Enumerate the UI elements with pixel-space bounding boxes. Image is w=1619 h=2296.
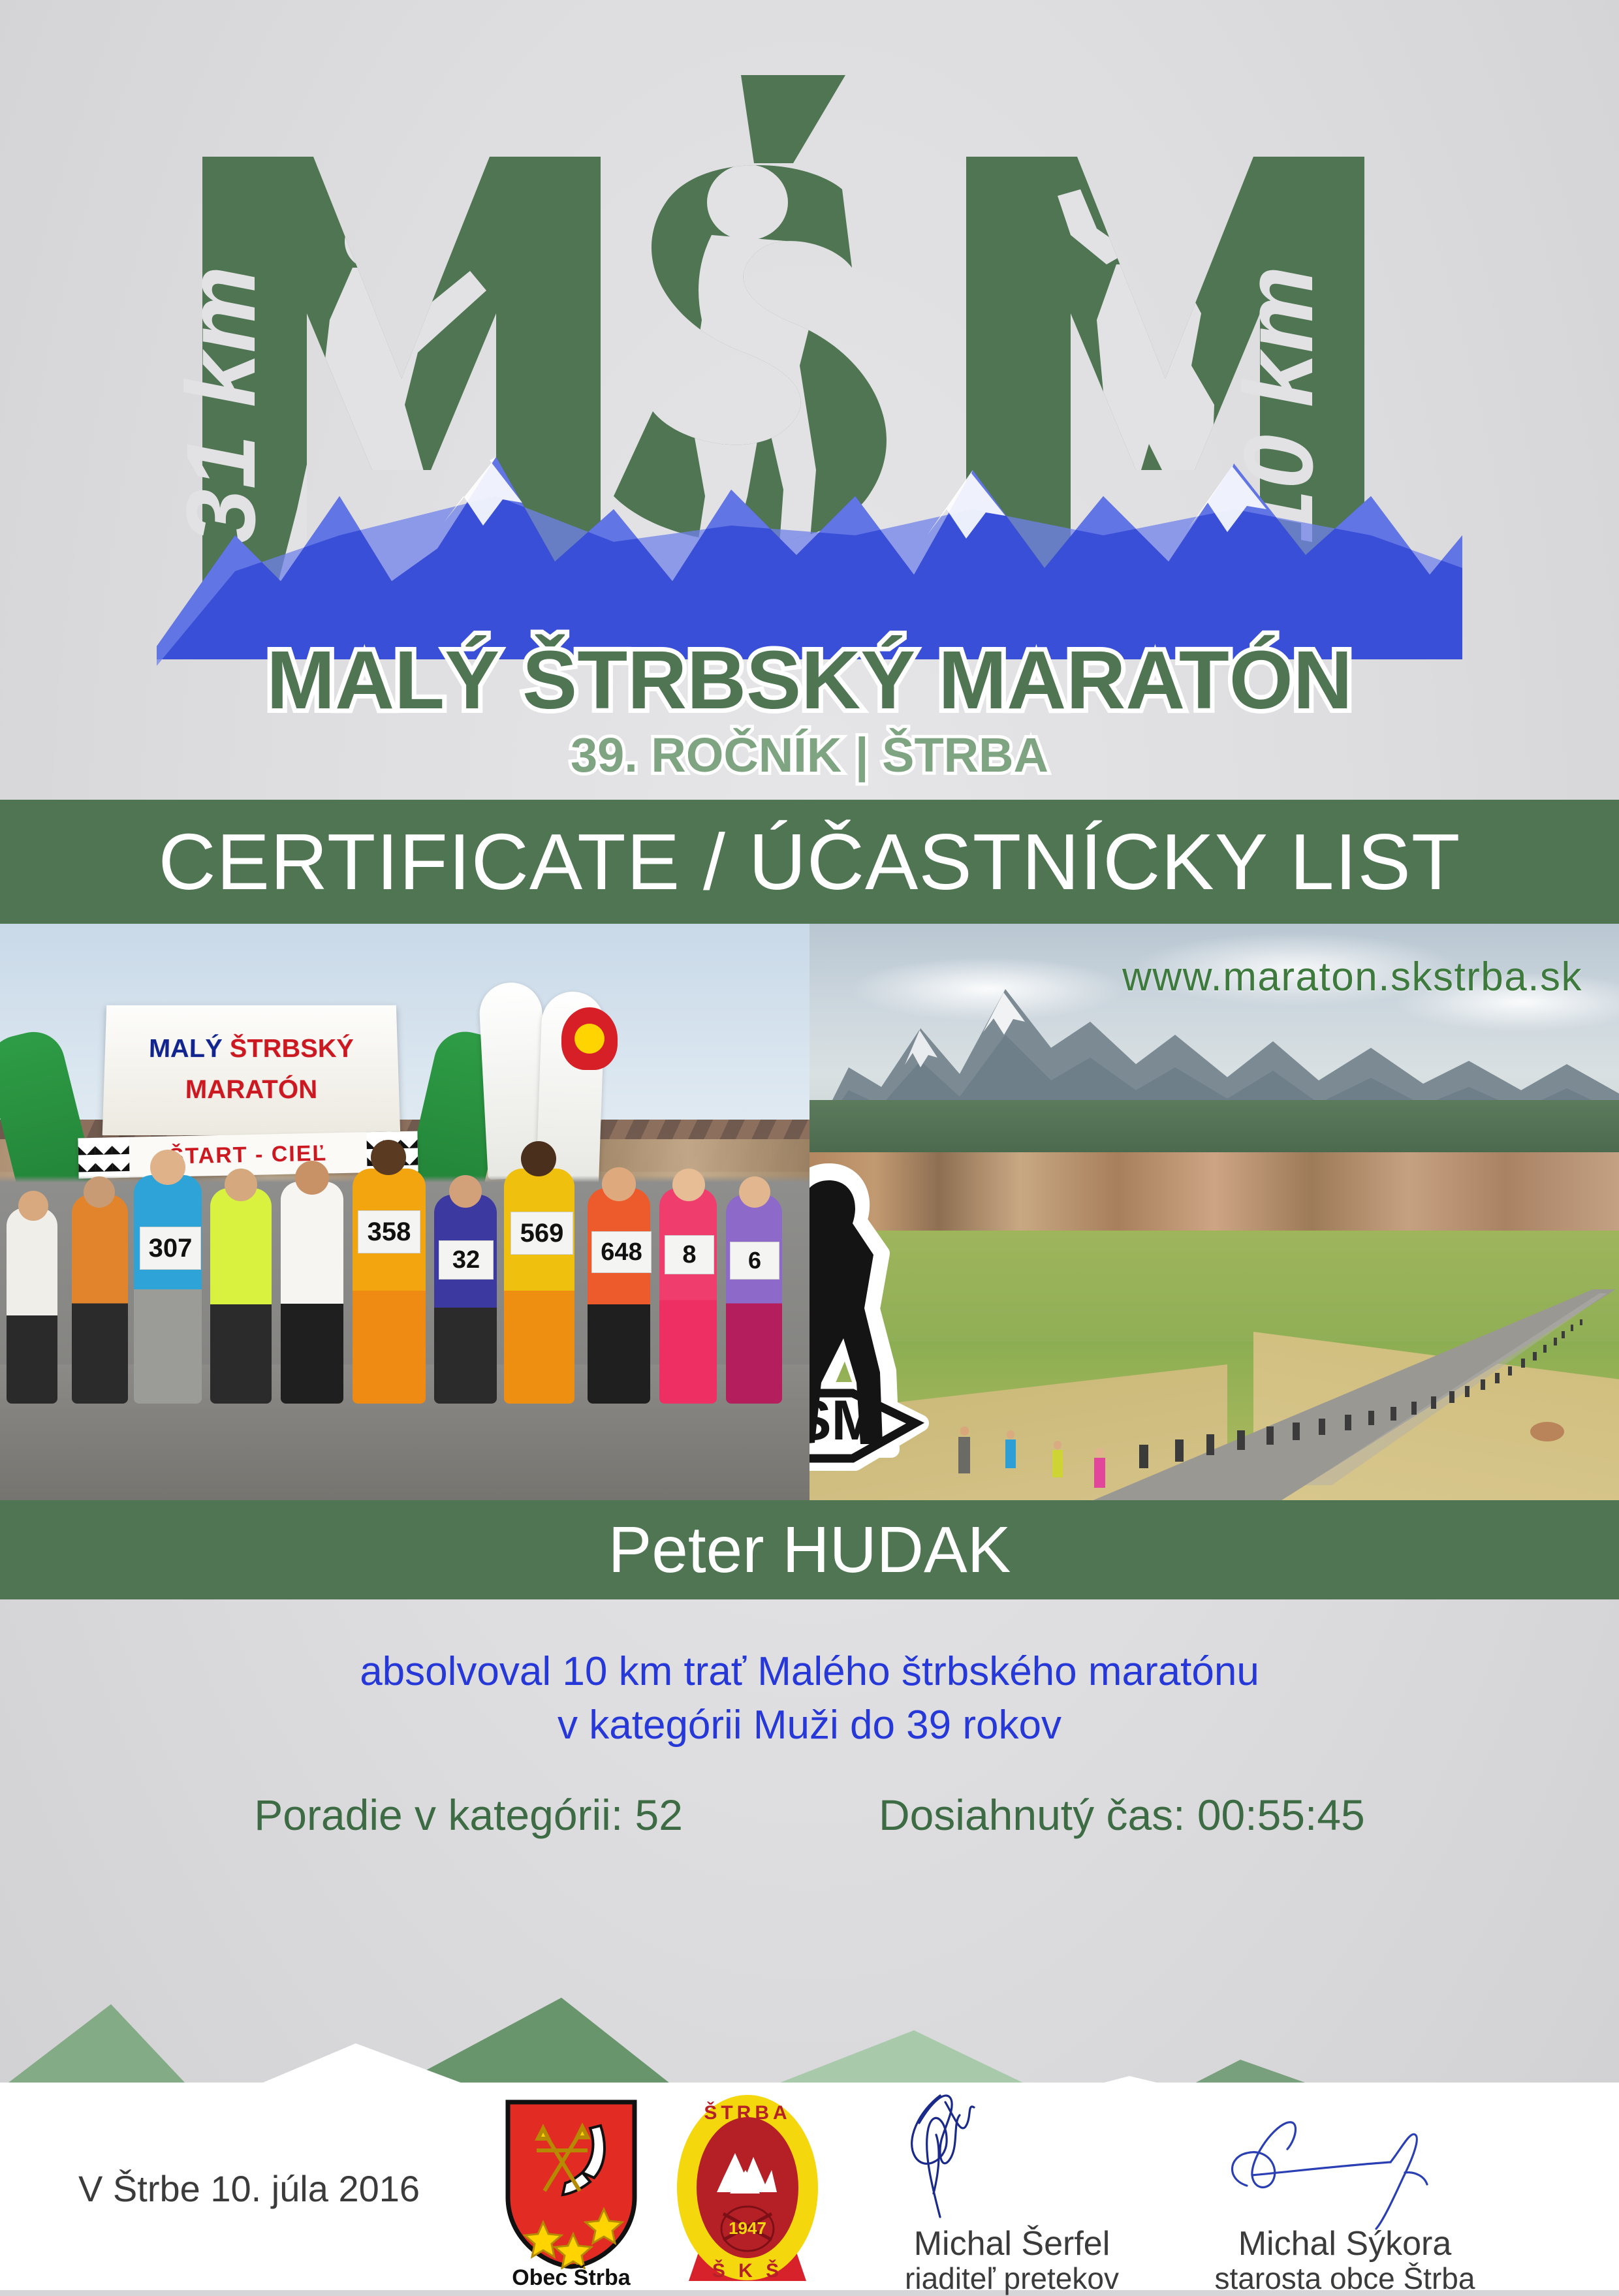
caron-mark xyxy=(741,75,845,163)
category-rank: Poradie v kategórii: 52 xyxy=(254,1790,683,1840)
runner-figure xyxy=(72,1195,128,1404)
runner-figure xyxy=(588,1188,650,1404)
flag-crest-icon xyxy=(561,1007,618,1070)
arch-word-strbsky: ŠTRBSKÝ xyxy=(230,1035,354,1063)
runner-bib: 8 xyxy=(665,1235,714,1274)
runner-figure xyxy=(434,1195,497,1404)
photo-strip: MALÝ ŠTRBSKÝ MARATÓN ŠTART - CIEĽ xyxy=(0,924,1619,1502)
runner-head xyxy=(84,1176,115,1208)
runner-figure xyxy=(134,1175,202,1404)
signatory-role: starosta obce Štrba xyxy=(1175,2262,1515,2296)
certificate-heading-band: CERTIFICATE / ÚČASTNÍCKY LIST xyxy=(0,800,1619,924)
runner-head xyxy=(150,1150,185,1185)
runner-head xyxy=(449,1175,482,1208)
runner-bib: 6 xyxy=(730,1242,779,1280)
msm-runner-emblem: MŠM xyxy=(809,1142,979,1502)
runner-head xyxy=(295,1161,329,1195)
arch-banner-line1: MALÝ ŠTRBSKÝ xyxy=(148,1035,354,1063)
runner-head xyxy=(225,1169,257,1201)
runner-figure xyxy=(504,1169,574,1404)
signatory-role: riaditeľ pretekov xyxy=(842,2262,1182,2296)
signature-block-director: Michal Šerfel riaditeľ pretekov xyxy=(842,2089,1182,2296)
runner-head xyxy=(739,1176,770,1208)
runner-figure xyxy=(210,1188,272,1404)
certificate-heading: CERTIFICATE / ÚČASTNÍCKY LIST xyxy=(159,816,1461,907)
runner-bib: 307 xyxy=(140,1227,201,1270)
runner-bib: 358 xyxy=(358,1210,420,1253)
runner-figure xyxy=(726,1195,782,1404)
arch-banner-line2: MARATÓN xyxy=(185,1075,317,1105)
sponsor-flags xyxy=(483,983,646,1191)
runner-bib: 569 xyxy=(511,1212,573,1255)
club-top-text: ŠTRBA xyxy=(704,2101,791,2124)
handwritten-signature xyxy=(842,2089,1182,2233)
runner-figure xyxy=(7,1208,57,1404)
obec-strba-coat-of-arms xyxy=(503,2099,640,2269)
signature-image-director xyxy=(842,2089,1182,2226)
photo-countryside: www.maraton.skstrba.sk MŠM xyxy=(809,924,1619,1502)
runner-bib: 648 xyxy=(591,1231,652,1273)
runner-figure xyxy=(659,1188,717,1404)
description-line-1: absolvoval 10 km trať Malého štrbského m… xyxy=(0,1645,1619,1699)
logo-distance-left: 31 km xyxy=(166,266,275,543)
participant-name: Peter HUDAK xyxy=(608,1513,1011,1588)
certificate-page: 31 km 10 km xyxy=(0,0,1619,2290)
event-logo: 31 km 10 km xyxy=(0,39,1619,796)
runner-bib: 32 xyxy=(439,1240,494,1280)
runner-head xyxy=(18,1191,48,1221)
issue-date: V Štrbe 10. júla 2016 xyxy=(78,2167,420,2210)
runner-figure xyxy=(281,1182,343,1404)
arch-word-maly: MALÝ xyxy=(148,1035,222,1063)
logo-title: MALÝ ŠTRBSKÝ MARATÓN xyxy=(266,634,1353,726)
runner-head xyxy=(521,1141,556,1176)
runner-head xyxy=(371,1140,406,1175)
participant-description: absolvoval 10 km trať Malého štrbského m… xyxy=(0,1645,1619,1752)
website-url[interactable]: www.maraton.skstrba.sk xyxy=(1122,954,1582,1000)
participant-name-band: Peter HUDAK xyxy=(0,1500,1619,1599)
footer: V Štrbe 10. júla 2016 Obec Štrba xyxy=(0,2069,1619,2290)
signature-block-mayor: Michal Sýkora starosta obce Štrba xyxy=(1175,2089,1515,2296)
logo-subtitle: 39. ROČNÍK | ŠTRBA xyxy=(571,728,1048,783)
club-bottom-text: Š K Š xyxy=(712,2259,783,2282)
finish-time: Dosiahnutý čas: 00:55:45 xyxy=(879,1790,1365,1840)
runner-head xyxy=(672,1169,705,1201)
photo-start-line: MALÝ ŠTRBSKÝ MARATÓN ŠTART - CIEĽ xyxy=(0,924,809,1502)
inflatable-start-arch: MALÝ ŠTRBSKÝ MARATÓN ŠTART - CIEĽ xyxy=(13,992,483,1149)
arch-banner: MALÝ ŠTRBSKÝ MARATÓN xyxy=(102,1005,401,1135)
runner-head xyxy=(602,1167,636,1201)
description-line-2: v kategórii Muži do 39 rokov xyxy=(0,1699,1619,1752)
msm-emblem-text: MŠM xyxy=(809,1389,878,1452)
arch-word-maraton: MARATÓN xyxy=(185,1075,317,1104)
handwritten-signature xyxy=(1175,2089,1515,2233)
signature-image-mayor xyxy=(1175,2089,1515,2226)
obec-strba-label: Obec Štrba xyxy=(503,2265,640,2291)
sks-strba-club-logo: 1947 ŠTRBA Š K Š xyxy=(672,2093,823,2282)
runner-figure xyxy=(353,1169,426,1404)
logo-graphic: 31 km 10 km xyxy=(157,39,1462,796)
result-row: Poradie v kategórii: 52 Dosiahnutý čas: … xyxy=(0,1790,1619,1840)
club-year: 1947 xyxy=(729,2218,766,2238)
